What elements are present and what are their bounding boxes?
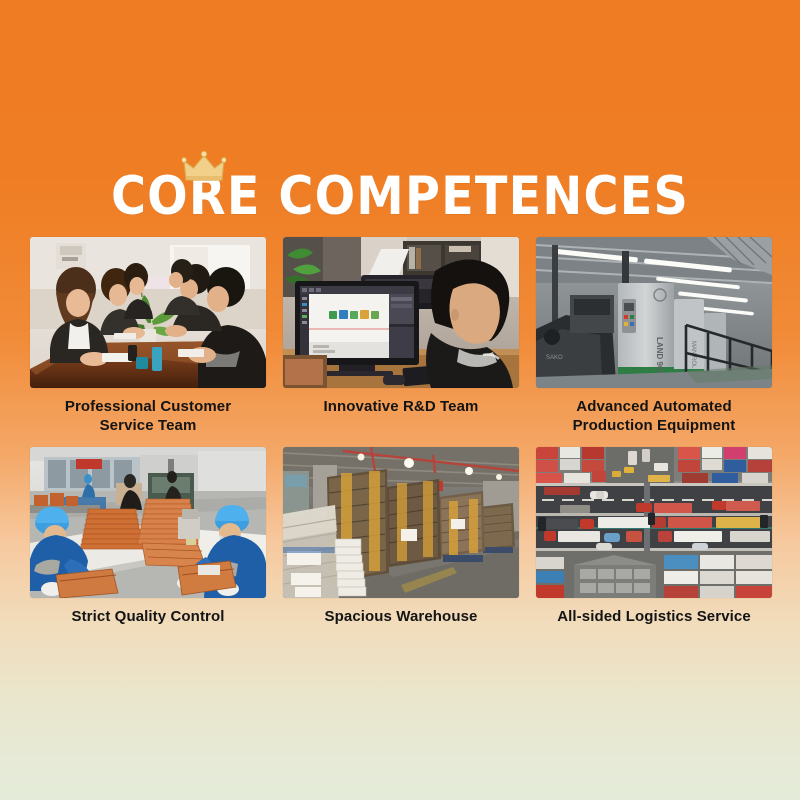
competence-card: Spacious Warehouse	[283, 447, 519, 626]
competences-grid: Professional Customer Service Team	[30, 237, 772, 626]
competence-card: Innovative R&D Team	[283, 237, 519, 435]
title-block: CORE COMPETENCES	[0, 150, 800, 226]
core-competences-banner: CORE COMPETENCES	[0, 0, 800, 800]
printing-press-photo: LAND 900 MAN ROL SAKO	[536, 237, 772, 388]
quality-inspection-photo	[30, 447, 266, 598]
card-caption: All-sided Logistics Service	[536, 607, 772, 626]
svg-text:LAND 900: LAND 900	[655, 337, 664, 375]
svg-text:SAKO: SAKO	[546, 355, 563, 361]
page-title: CORE COMPETENCES	[111, 168, 689, 226]
logistics-aerial-photo	[536, 447, 772, 598]
designer-at-monitor-photo	[283, 237, 519, 388]
competence-card: LAND 900 MAN ROL SAKO	[536, 237, 772, 435]
card-caption: Spacious Warehouse	[283, 607, 519, 626]
competence-card: All-sided Logistics Service	[536, 447, 772, 626]
competence-card: Professional Customer Service Team	[30, 237, 266, 435]
card-caption: Advanced Automated Production Equipment	[536, 397, 772, 435]
competence-card: Strict Quality Control	[30, 447, 266, 626]
warehouse-photo	[283, 447, 519, 598]
card-caption: Innovative R&D Team	[283, 397, 519, 416]
meeting-room-photo	[30, 237, 266, 388]
card-caption: Strict Quality Control	[30, 607, 266, 626]
card-caption: Professional Customer Service Team	[30, 397, 266, 435]
